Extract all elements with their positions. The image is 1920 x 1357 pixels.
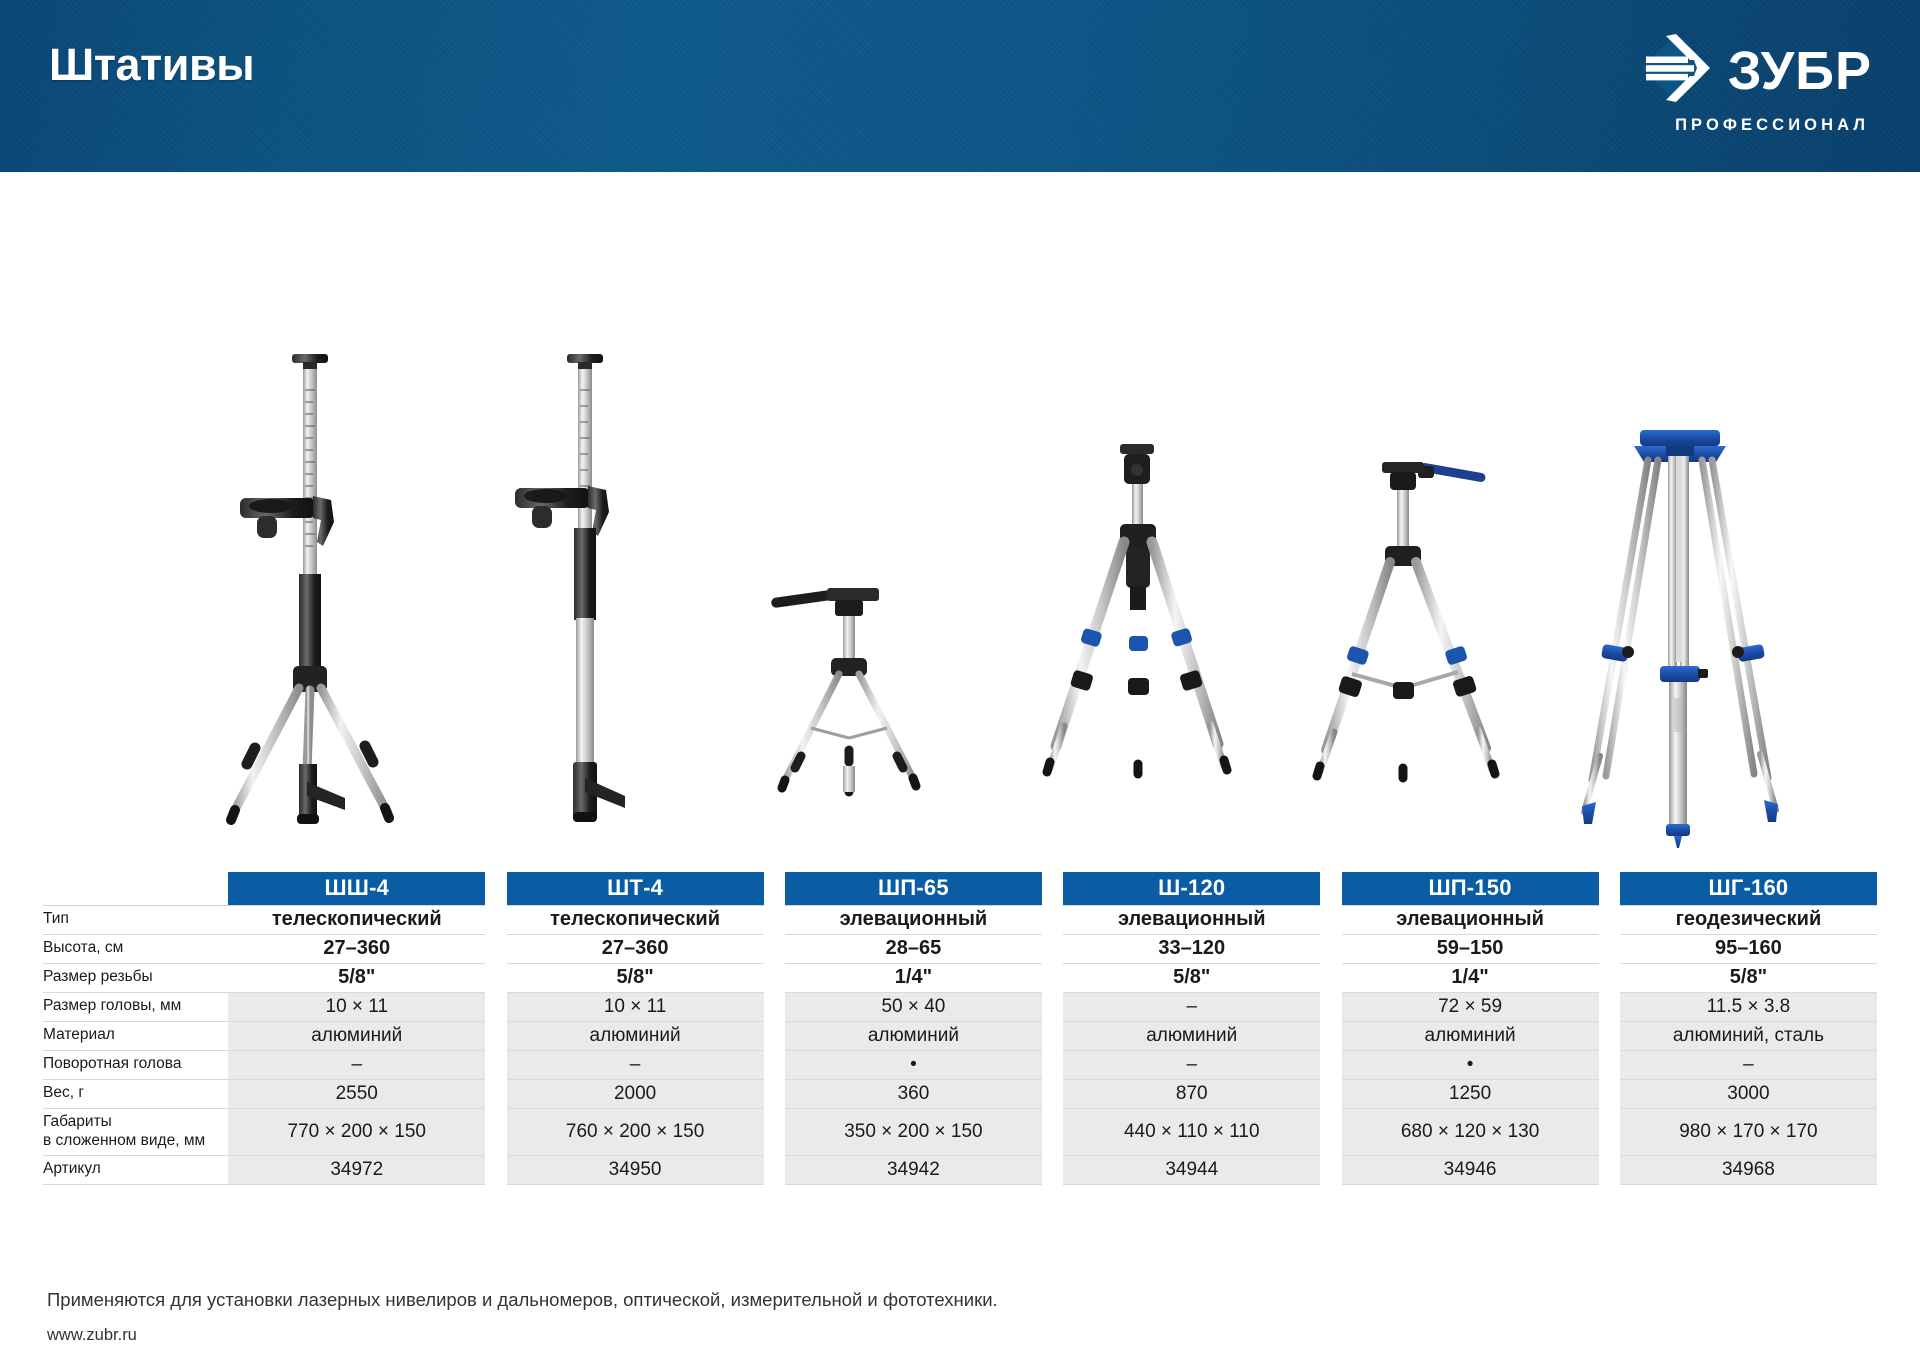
col-gap: [1042, 1050, 1063, 1079]
col-gap: [1042, 1079, 1063, 1108]
col-gap: [764, 963, 785, 992]
cell-type-1: телескопический: [507, 905, 764, 934]
cell-rotating-head-1: –: [507, 1050, 764, 1079]
logo-wordmark: ЗУБР: [1728, 44, 1872, 98]
col-gap: [485, 1079, 506, 1108]
table-row-folded-dimensions: Габариты в сложенном виде, мм 770 × 200 …: [43, 1108, 1877, 1155]
cell-folded-3: 440 × 110 × 110: [1063, 1108, 1320, 1155]
cell-folded-4: 680 × 120 × 130: [1342, 1108, 1599, 1155]
col-gap: [764, 1155, 785, 1184]
row-label-folded-dimensions: Габариты в сложенном виде, мм: [43, 1108, 228, 1155]
cell-height-5: 95–160: [1620, 934, 1877, 963]
footer-website-url[interactable]: www.zubr.ru: [47, 1326, 1447, 1346]
product-header-5[interactable]: ШГ-160: [1620, 872, 1877, 905]
col-gap: [1320, 1079, 1341, 1108]
col-gap: [1320, 934, 1341, 963]
col-gap: [485, 1108, 506, 1155]
product-image-Ш-120: [1008, 430, 1262, 850]
col-gap: [1320, 1021, 1341, 1050]
table-row-height: Высота, см 27–360 27–360 28–65 33–120 59…: [43, 934, 1877, 963]
col-gap: [1042, 872, 1063, 905]
cell-type-4: элевационный: [1342, 905, 1599, 934]
row-label-rotating-head: Поворотная голова: [43, 1050, 228, 1079]
col-gap: [764, 1050, 785, 1079]
cell-material-0: алюминий: [228, 1021, 485, 1050]
cell-weight-3: 870: [1063, 1079, 1320, 1108]
col-gap: [1599, 1021, 1620, 1050]
col-gap: [1042, 992, 1063, 1021]
col-gap: [1042, 963, 1063, 992]
page-title: Штативы: [49, 42, 254, 87]
cell-weight-0: 2550: [228, 1079, 485, 1108]
specifications-table: ШШ-4 ШТ-4 ШП-65 Ш-120 ШП-150 ШГ-160 Тип …: [43, 872, 1877, 1185]
col-gap: [1320, 1155, 1341, 1184]
cell-material-2: алюминий: [785, 1021, 1042, 1050]
cell-thread-1: 5/8": [507, 963, 764, 992]
row-label-head-size: Размер головы, мм: [43, 992, 228, 1021]
cell-folded-0: 770 × 200 × 150: [228, 1108, 485, 1155]
col-gap: [1042, 905, 1063, 934]
cell-thread-0: 5/8": [228, 963, 485, 992]
cell-head-size-1: 10 × 11: [507, 992, 764, 1021]
cell-weight-5: 3000: [1620, 1079, 1877, 1108]
cell-rotating-head-3: –: [1063, 1050, 1320, 1079]
cell-weight-4: 1250: [1342, 1079, 1599, 1108]
table-row-weight: Вес, г 2550 2000 360 870 1250 3000: [43, 1079, 1877, 1108]
cell-head-size-2: 50 × 40: [785, 992, 1042, 1021]
cell-height-4: 59–150: [1342, 934, 1599, 963]
cell-thread-4: 1/4": [1342, 963, 1599, 992]
product-header-1[interactable]: ШТ-4: [507, 872, 764, 905]
product-image-ШТ-4: [458, 350, 712, 850]
col-gap: [485, 934, 506, 963]
col-gap: [764, 1079, 785, 1108]
col-gap: [764, 992, 785, 1021]
col-gap: [1599, 872, 1620, 905]
cell-sku-5: 34968: [1620, 1155, 1877, 1184]
cell-sku-2: 34942: [785, 1155, 1042, 1184]
col-gap: [764, 1108, 785, 1155]
col-gap: [485, 1021, 506, 1050]
col-gap: [485, 992, 506, 1021]
col-gap: [1042, 1155, 1063, 1184]
cell-sku-0: 34972: [228, 1155, 485, 1184]
col-gap: [1320, 872, 1341, 905]
table-row-thread: Размер резьбы 5/8" 5/8" 1/4" 5/8" 1/4" 5…: [43, 963, 1877, 992]
cell-rotating-head-0: –: [228, 1050, 485, 1079]
col-gap: [1042, 1021, 1063, 1050]
cell-folded-5: 980 × 170 × 170: [1620, 1108, 1877, 1155]
col-gap: [764, 872, 785, 905]
col-gap: [1320, 905, 1341, 934]
row-label-material: Материал: [43, 1021, 228, 1050]
cell-folded-1: 760 × 200 × 150: [507, 1108, 764, 1155]
cell-rotating-head-5: –: [1620, 1050, 1877, 1079]
page-footer: Применяются для установки лазерных нивел…: [47, 1288, 1447, 1346]
product-header-3[interactable]: Ш-120: [1063, 872, 1320, 905]
cell-type-5: геодезический: [1620, 905, 1877, 934]
col-gap: [485, 905, 506, 934]
cell-type-2: элевационный: [785, 905, 1042, 934]
col-gap: [1042, 934, 1063, 963]
col-gap: [1599, 934, 1620, 963]
col-gap: [485, 872, 506, 905]
cell-head-size-0: 10 × 11: [228, 992, 485, 1021]
product-image-ШГ-160: [1558, 420, 1812, 850]
table-row-head-size: Размер головы, мм 10 × 11 10 × 11 50 × 4…: [43, 992, 1877, 1021]
cell-height-3: 33–120: [1063, 934, 1320, 963]
table-row-material: Материал алюминий алюминий алюминий алюм…: [43, 1021, 1877, 1050]
product-image-ШП-150: [1283, 450, 1537, 850]
col-gap: [1599, 1108, 1620, 1155]
cell-head-size-4: 72 × 59: [1342, 992, 1599, 1021]
row-label-thread: Размер резьбы: [43, 963, 228, 992]
col-gap: [1320, 992, 1341, 1021]
col-gap: [1599, 963, 1620, 992]
cell-type-3: элевационный: [1063, 905, 1320, 934]
cell-height-2: 28–65: [785, 934, 1042, 963]
cell-thread-3: 5/8": [1063, 963, 1320, 992]
cell-material-1: алюминий: [507, 1021, 764, 1050]
cell-folded-2: 350 × 200 × 150: [785, 1108, 1042, 1155]
col-gap: [1599, 905, 1620, 934]
table-row-sku: Артикул 34972 34950 34942 34944 34946 34…: [43, 1155, 1877, 1184]
row-label-folded-line2: в сложенном виде, мм: [43, 1132, 205, 1149]
product-image-strip: [0, 172, 1920, 872]
cell-weight-2: 360: [785, 1079, 1042, 1108]
product-header-2[interactable]: ШП-65: [785, 872, 1042, 905]
cell-material-3: алюминий: [1063, 1021, 1320, 1050]
cell-head-size-5: 11.5 × 3.8: [1620, 992, 1877, 1021]
brand-logo: ЗУБР ПРОФЕССИОНАЛ: [1640, 32, 1872, 135]
row-label-folded-line1: Габариты: [43, 1113, 112, 1130]
col-gap: [764, 1021, 785, 1050]
col-gap: [485, 963, 506, 992]
col-gap: [1042, 1108, 1063, 1155]
row-label-height: Высота, см: [43, 934, 228, 963]
row-label-type: Тип: [43, 905, 228, 934]
col-gap: [485, 1050, 506, 1079]
product-header-0[interactable]: ШШ-4: [228, 872, 485, 905]
product-image-ШШ-4: [183, 350, 437, 850]
cell-thread-5: 5/8": [1620, 963, 1877, 992]
cell-sku-4: 34946: [1342, 1155, 1599, 1184]
col-gap: [485, 1155, 506, 1184]
cell-material-5: алюминий, сталь: [1620, 1021, 1877, 1050]
cell-sku-3: 34944: [1063, 1155, 1320, 1184]
table-row-type: Тип телескопический телескопический элев…: [43, 905, 1877, 934]
col-gap: [1599, 992, 1620, 1021]
cell-height-1: 27–360: [507, 934, 764, 963]
product-header-4[interactable]: ШП-150: [1342, 872, 1599, 905]
col-gap: [1320, 963, 1341, 992]
zubr-diamond-icon: [1640, 32, 1712, 109]
cell-type-0: телескопический: [228, 905, 485, 934]
col-gap: [1320, 1050, 1341, 1079]
page-header-banner: Штативы ЗУБР: [0, 0, 1920, 172]
table-row-rotating-head: Поворотная голова – – • – • –: [43, 1050, 1877, 1079]
col-gap: [764, 934, 785, 963]
cell-height-0: 27–360: [228, 934, 485, 963]
cell-sku-1: 34950: [507, 1155, 764, 1184]
logo-tagline: ПРОФЕССИОНАЛ: [1675, 116, 1869, 135]
col-gap: [1320, 1108, 1341, 1155]
col-gap: [764, 905, 785, 934]
cell-weight-1: 2000: [507, 1079, 764, 1108]
cell-material-4: алюминий: [1342, 1021, 1599, 1050]
product-sheet-page: Штативы ЗУБР: [0, 0, 1920, 1357]
footer-application-note: Применяются для установки лазерных нивел…: [47, 1288, 1447, 1313]
col-gap: [1599, 1050, 1620, 1079]
cell-rotating-head-4: •: [1342, 1050, 1599, 1079]
header-spacer: [43, 872, 228, 905]
row-label-weight: Вес, г: [43, 1079, 228, 1108]
product-image-ШП-65: [733, 570, 987, 850]
cell-rotating-head-2: •: [785, 1050, 1042, 1079]
cell-thread-2: 1/4": [785, 963, 1042, 992]
table-header-row: ШШ-4 ШТ-4 ШП-65 Ш-120 ШП-150 ШГ-160: [43, 872, 1877, 905]
row-label-sku: Артикул: [43, 1155, 228, 1184]
col-gap: [1599, 1155, 1620, 1184]
col-gap: [1599, 1079, 1620, 1108]
logo-main-row: ЗУБР: [1640, 32, 1872, 109]
cell-head-size-3: –: [1063, 992, 1320, 1021]
